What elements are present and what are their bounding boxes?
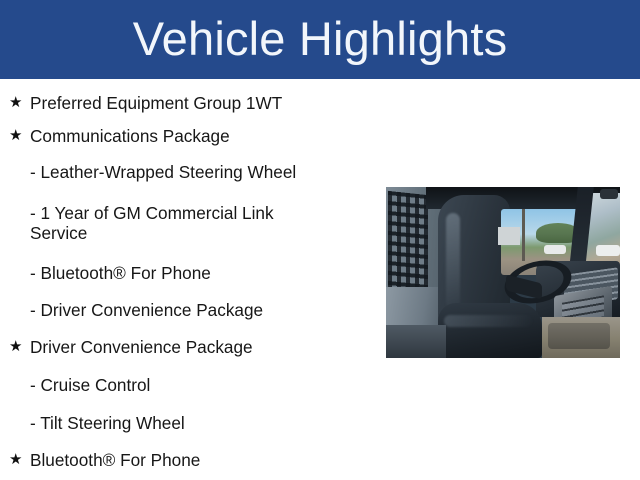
highlight-item: ★Driver Convenience Package — [0, 337, 253, 357]
highlight-item-label: - Cruise Control — [30, 375, 150, 395]
highlight-item: - Driver Convenience Package — [0, 300, 263, 320]
photo-rearview-mirror — [600, 189, 618, 199]
highlight-item: - Cruise Control — [0, 375, 150, 395]
star-bullet-icon: ★ — [9, 126, 25, 146]
page-title: Vehicle Highlights — [133, 15, 508, 62]
photo-window-pole — [522, 209, 525, 261]
highlight-item: ★Communications Package — [0, 126, 230, 146]
highlights-list: ★Preferred Equipment Group 1WT★Communica… — [0, 79, 380, 480]
photo-lower-left-trim — [386, 325, 446, 358]
highlight-item-label: - Leather-Wrapped Steering Wheel — [30, 162, 296, 182]
highlight-item-label: Bluetooth® For Phone — [30, 450, 200, 470]
highlight-item: ★Preferred Equipment Group 1WT — [0, 93, 282, 113]
highlight-item: - Bluetooth® For Phone — [0, 263, 211, 283]
star-bullet-icon: ★ — [9, 93, 25, 113]
highlight-item: - 1 Year of GM Commercial Link Service — [0, 203, 280, 243]
highlight-item-label: - 1 Year of GM Commercial Link Service — [30, 203, 280, 243]
highlight-item-label: - Driver Convenience Package — [30, 300, 263, 320]
highlight-item: ★Bluetooth® For Phone — [0, 450, 200, 470]
highlight-item-label: Driver Convenience Package — [30, 337, 253, 357]
header-banner: Vehicle Highlights — [0, 0, 640, 79]
photo-seat-edge — [444, 315, 532, 327]
star-bullet-icon: ★ — [9, 450, 25, 470]
highlight-item-label: Communications Package — [30, 126, 230, 146]
photo-floor-mat — [548, 323, 610, 349]
photo-partition-screen — [388, 191, 428, 291]
photo-window-car — [544, 245, 566, 254]
vehicle-interior-photo — [386, 187, 620, 358]
highlight-item-label: - Tilt Steering Wheel — [30, 413, 185, 433]
highlight-item: - Tilt Steering Wheel — [0, 413, 185, 433]
photo-window-building — [498, 227, 520, 245]
highlight-item-label: - Bluetooth® For Phone — [30, 263, 211, 283]
photo-windshield-car — [596, 245, 620, 256]
star-bullet-icon: ★ — [9, 337, 25, 357]
highlight-item: - Leather-Wrapped Steering Wheel — [0, 162, 296, 182]
highlight-item-label: Preferred Equipment Group 1WT — [30, 93, 282, 113]
photo-seat-cushion — [438, 303, 542, 358]
photo-seat-back-highlight — [446, 213, 460, 309]
vehicle-highlights-slide: Vehicle Highlights ★Preferred Equipment … — [0, 0, 640, 480]
